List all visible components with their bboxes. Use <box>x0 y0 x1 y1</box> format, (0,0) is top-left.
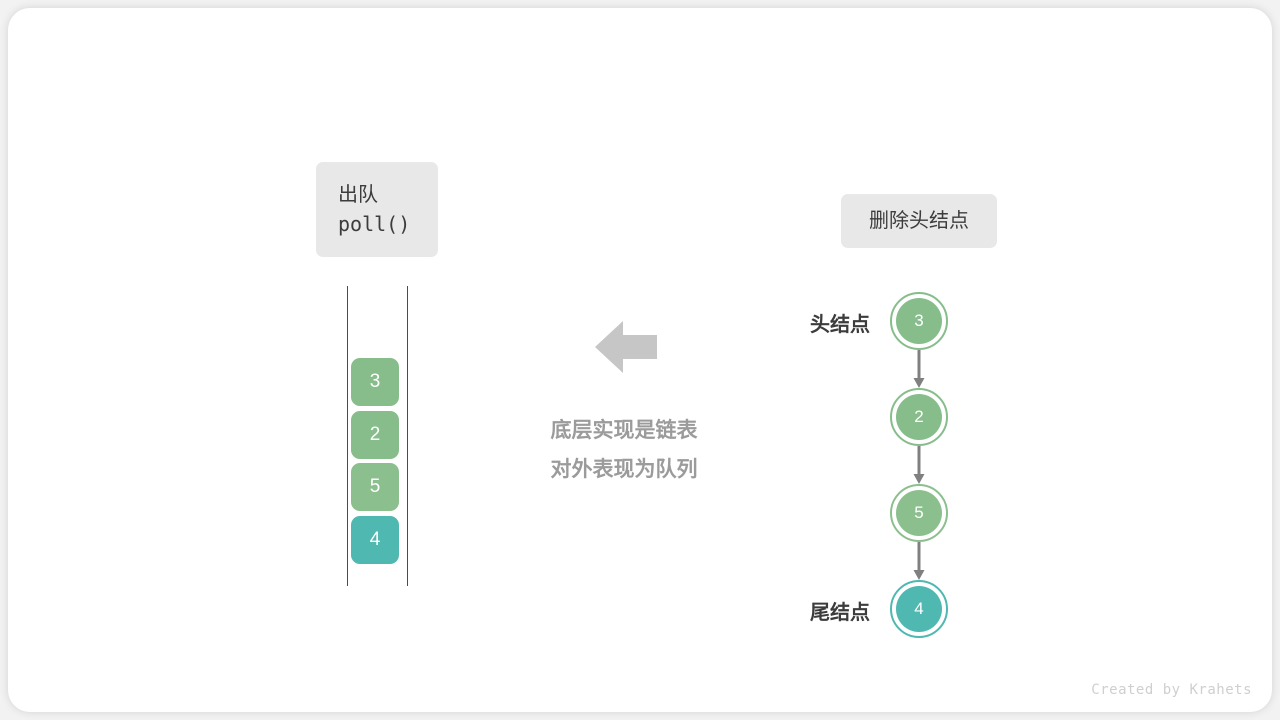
queue-cell: 5 <box>351 463 399 511</box>
watermark-credit: Created by Krahets <box>1091 682 1252 698</box>
equivalence-arrow-icon <box>595 320 657 374</box>
linked-list-connector-arrow <box>912 542 926 580</box>
linked-list-node-value: 3 <box>896 298 942 344</box>
queue-rail-left <box>347 286 348 586</box>
implementation-label-text: 删除头结点 <box>869 207 969 236</box>
linked-list-node-value: 2 <box>896 394 942 440</box>
operation-label-box: 出队 poll() <box>316 162 438 257</box>
linked-list-node-value: 4 <box>896 586 942 632</box>
diagram-canvas: 出队 poll() 删除头结点 3254 底层实现是链表 对外表现为队列 325… <box>0 0 1280 720</box>
center-caption-line-2: 对外表现为队列 <box>500 451 748 490</box>
linked-list-node-value: 5 <box>896 490 942 536</box>
operation-label-cn: 出队 <box>338 181 378 210</box>
implementation-label-box: 删除头结点 <box>841 194 997 248</box>
linked-list-node: 2 <box>890 388 948 446</box>
linked-list-connector-arrow <box>912 350 926 388</box>
linked-list-node: 5 <box>890 484 948 542</box>
queue-cell: 2 <box>351 411 399 459</box>
center-caption-line-1: 底层实现是链表 <box>500 412 748 451</box>
queue-rail-right <box>407 286 408 586</box>
tail-node-label: 尾结点 <box>710 596 870 625</box>
queue-cell: 4 <box>351 516 399 564</box>
operation-label-code: poll() <box>338 210 410 239</box>
queue-cell: 3 <box>351 358 399 406</box>
head-node-label: 头结点 <box>710 308 870 337</box>
linked-list-node: 3 <box>890 292 948 350</box>
center-caption: 底层实现是链表 对外表现为队列 <box>500 412 748 490</box>
linked-list-node: 4 <box>890 580 948 638</box>
linked-list-connector-arrow <box>912 446 926 484</box>
